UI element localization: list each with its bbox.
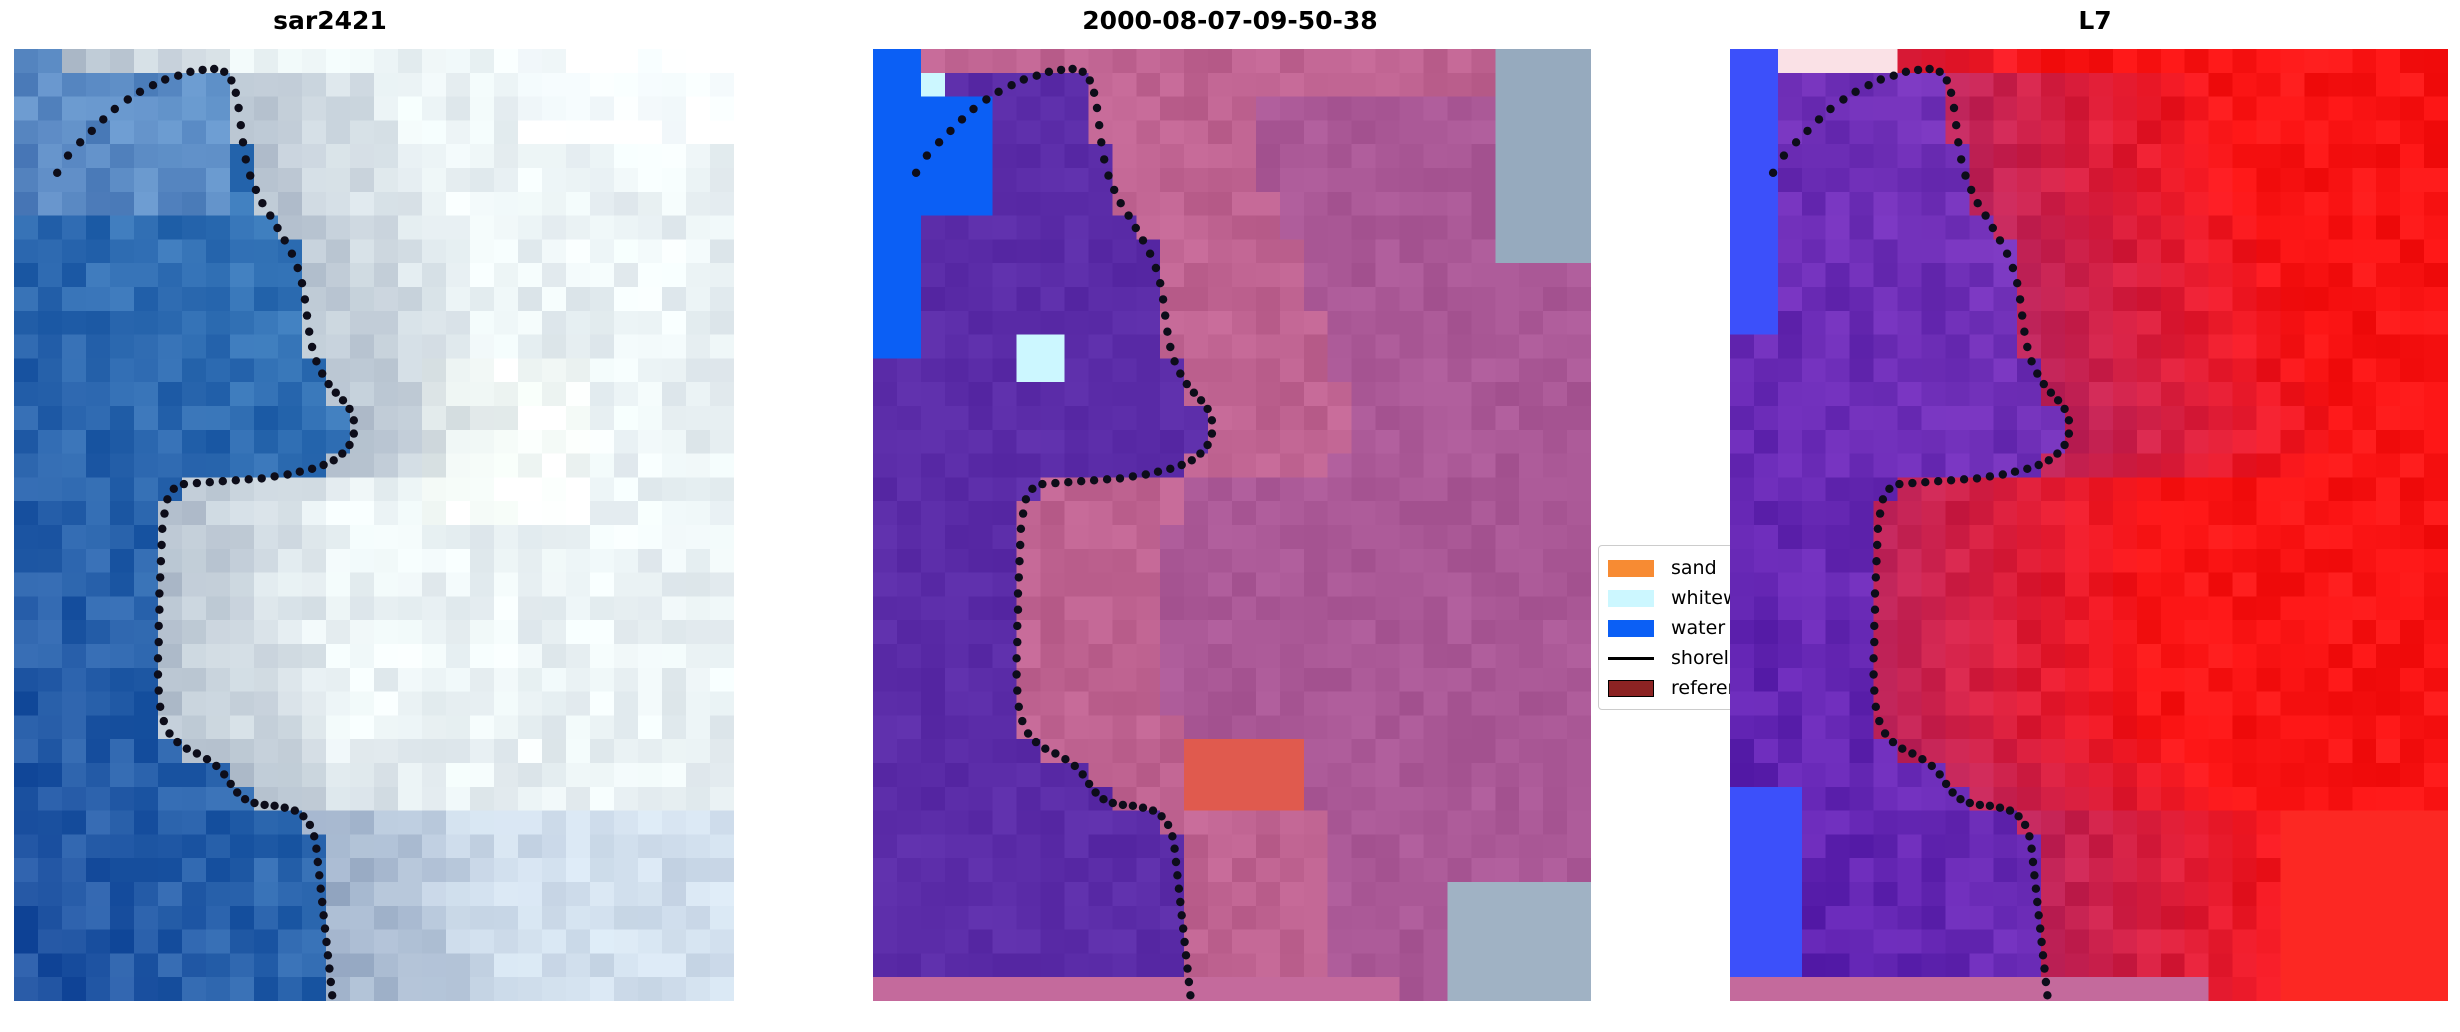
panel-title-l7: L7 (1895, 6, 2295, 35)
water-swatch-icon (1608, 620, 1654, 637)
legend-label-water: water (1671, 619, 1725, 638)
panel-l7[interactable] (1730, 49, 2448, 1001)
sand-swatch-icon (1608, 560, 1654, 577)
shoreline-line-icon (1608, 657, 1654, 660)
panel-sar2421[interactable] (14, 49, 734, 1001)
panel-title-classified: 2000-08-07-09-50-38 (1000, 6, 1460, 35)
raster-l7 (1730, 49, 2448, 1001)
panel-title-sar2421: sar2421 (130, 6, 530, 35)
legend-label-sand: sand (1671, 559, 1717, 578)
whitewater-swatch-icon (1608, 590, 1654, 607)
figure-canvas: sar2421 2000-08-07-09-50-38 sand whitewa… (0, 0, 2460, 1032)
raster-sar2421 (14, 49, 734, 1001)
reference-shoreline-swatch-icon (1608, 680, 1654, 697)
panel-classified[interactable] (873, 49, 1591, 1001)
raster-classified (873, 49, 1591, 1001)
